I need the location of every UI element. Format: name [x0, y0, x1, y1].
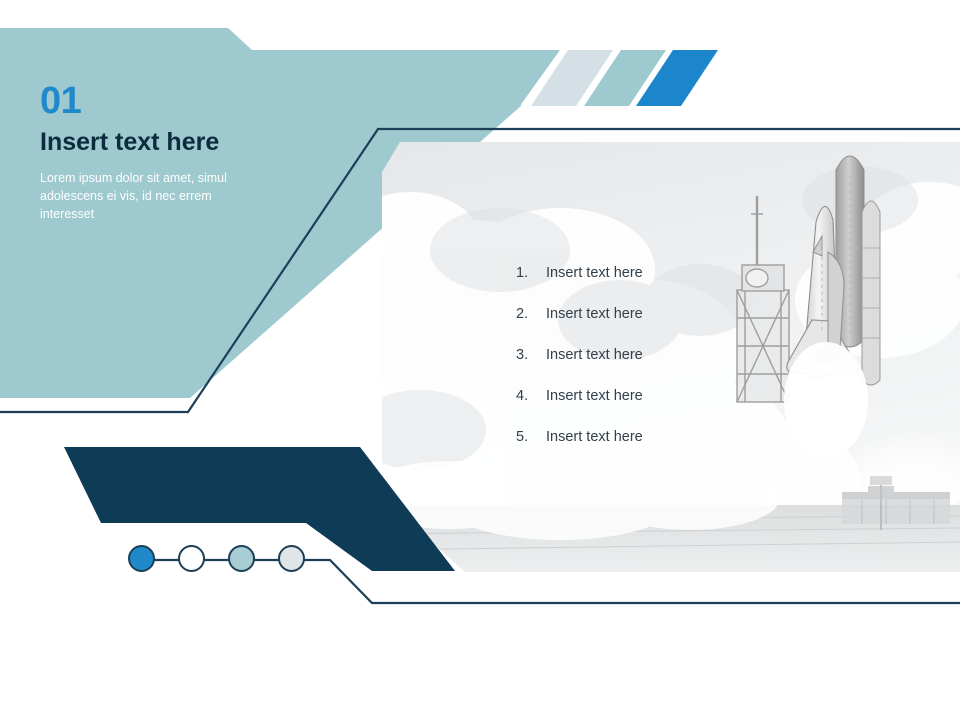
page-subtitle: Lorem ipsum dolor sit amet, simul adoles…	[40, 169, 255, 223]
list-item[interactable]: 2.Insert text here	[516, 306, 766, 347]
timeline-dots	[128, 545, 328, 577]
slide-canvas: 01 Insert text here Lorem ipsum dolor si…	[0, 0, 960, 720]
timeline-dot-4[interactable]	[278, 545, 305, 572]
list-item-number: 2.	[516, 306, 546, 322]
list-item-label: Insert text here	[546, 347, 643, 363]
list-item[interactable]: 5.Insert text here	[516, 429, 766, 470]
timeline-dot-3[interactable]	[228, 545, 255, 572]
slide-number: 01	[40, 82, 330, 122]
list-item[interactable]: 4.Insert text here	[516, 388, 766, 429]
numbered-list: 1.Insert text here2.Insert text here3.In…	[516, 265, 766, 470]
timeline-dot-2[interactable]	[178, 545, 205, 572]
list-item-label: Insert text here	[546, 306, 643, 322]
list-item-label: Insert text here	[546, 265, 643, 281]
list-item[interactable]: 3.Insert text here	[516, 347, 766, 388]
list-item-label: Insert text here	[546, 388, 643, 404]
list-item-number: 5.	[516, 429, 546, 445]
list-item-number: 1.	[516, 265, 546, 281]
list-item-number: 3.	[516, 347, 546, 363]
page-title: Insert text here	[40, 128, 330, 157]
left-text-block: 01 Insert text here Lorem ipsum dolor si…	[40, 82, 330, 223]
timeline-dot-1[interactable]	[128, 545, 155, 572]
list-item[interactable]: 1.Insert text here	[516, 265, 766, 306]
list-item-number: 4.	[516, 388, 546, 404]
list-item-label: Insert text here	[546, 429, 643, 445]
